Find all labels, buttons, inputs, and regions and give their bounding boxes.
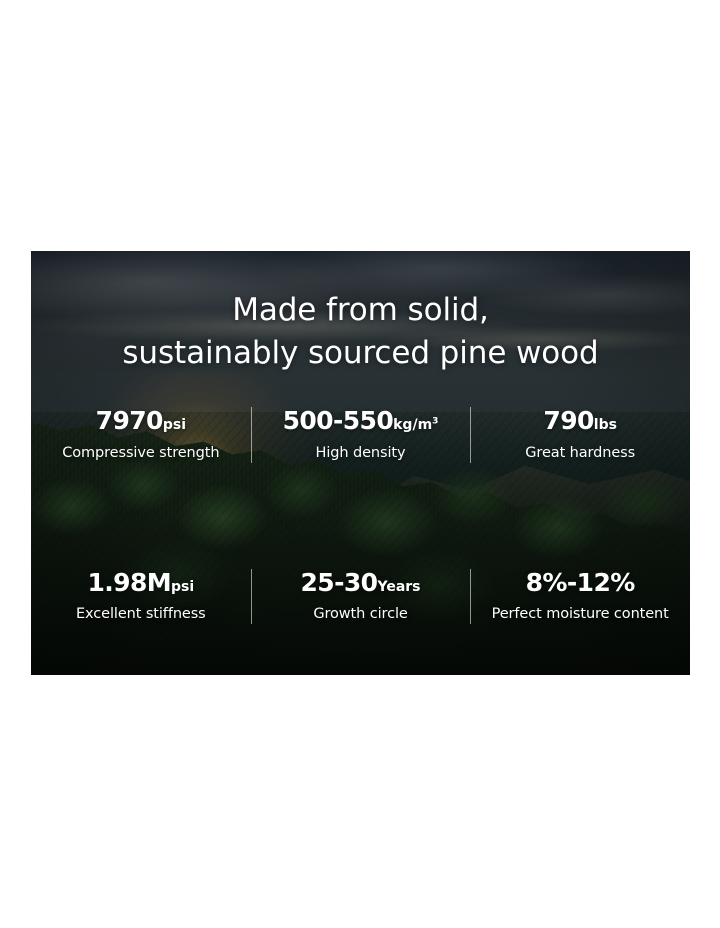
product-feature-banner: Made from solid, sustainably sourced pin… (31, 251, 690, 675)
stat-value: 1.98Mpsi (37, 569, 245, 597)
stats-row-1: 7970psi Compressive strength 500-550kg/m… (31, 401, 690, 469)
stat-unit: psi (163, 417, 186, 433)
banner-headline: Made from solid, sustainably sourced pin… (31, 289, 690, 375)
stat-number: 500-550 (283, 406, 394, 435)
stat-value: 790lbs (476, 407, 684, 435)
stat-value: 7970psi (37, 407, 245, 435)
stat-label: Compressive strength (37, 445, 245, 461)
stat-value: 25-30Years (257, 569, 465, 597)
stat-number: 7970 (96, 406, 163, 435)
stat-cell-high-density: 500-550kg/m3 High density (251, 401, 471, 469)
stat-unit-text: psi (163, 417, 186, 433)
stat-unit-text: lbs (594, 417, 617, 433)
stat-value: 8%-12% (476, 569, 684, 597)
stat-unit-text: kg/m (393, 417, 432, 433)
stat-cell-growth-circle: 25-30Years Growth circle (251, 563, 471, 631)
stat-unit: Years (377, 579, 420, 595)
stat-label: Perfect moisture content (476, 606, 684, 622)
stat-cell-moisture-content: 8%-12% Perfect moisture content (470, 563, 690, 631)
stat-unit-text: psi (171, 579, 194, 595)
stat-unit-superscript: 3 (432, 416, 438, 426)
stat-unit-text: Years (377, 579, 420, 595)
stat-unit: psi (171, 579, 194, 595)
stat-label: Excellent stiffness (37, 606, 245, 622)
stats-row-2: 1.98Mpsi Excellent stiffness 25-30Years … (31, 563, 690, 631)
stat-number: 1.98M (87, 568, 171, 597)
stat-label: Great hardness (476, 445, 684, 461)
stat-value: 500-550kg/m3 (257, 407, 465, 435)
stat-number: 790 (543, 406, 593, 435)
banner-content: Made from solid, sustainably sourced pin… (31, 251, 690, 675)
stat-cell-compressive-strength: 7970psi Compressive strength (31, 401, 251, 469)
stat-cell-great-hardness: 790lbs Great hardness (470, 401, 690, 469)
stats-grid: 7970psi Compressive strength 500-550kg/m… (31, 401, 690, 630)
stat-label: Growth circle (257, 606, 465, 622)
stat-number: 25-30 (301, 568, 378, 597)
stat-number: 8%-12% (526, 568, 635, 597)
stat-unit: lbs (594, 417, 617, 433)
stat-label: High density (257, 445, 465, 461)
stat-cell-excellent-stiffness: 1.98Mpsi Excellent stiffness (31, 563, 251, 631)
stat-unit: kg/m3 (393, 417, 438, 433)
